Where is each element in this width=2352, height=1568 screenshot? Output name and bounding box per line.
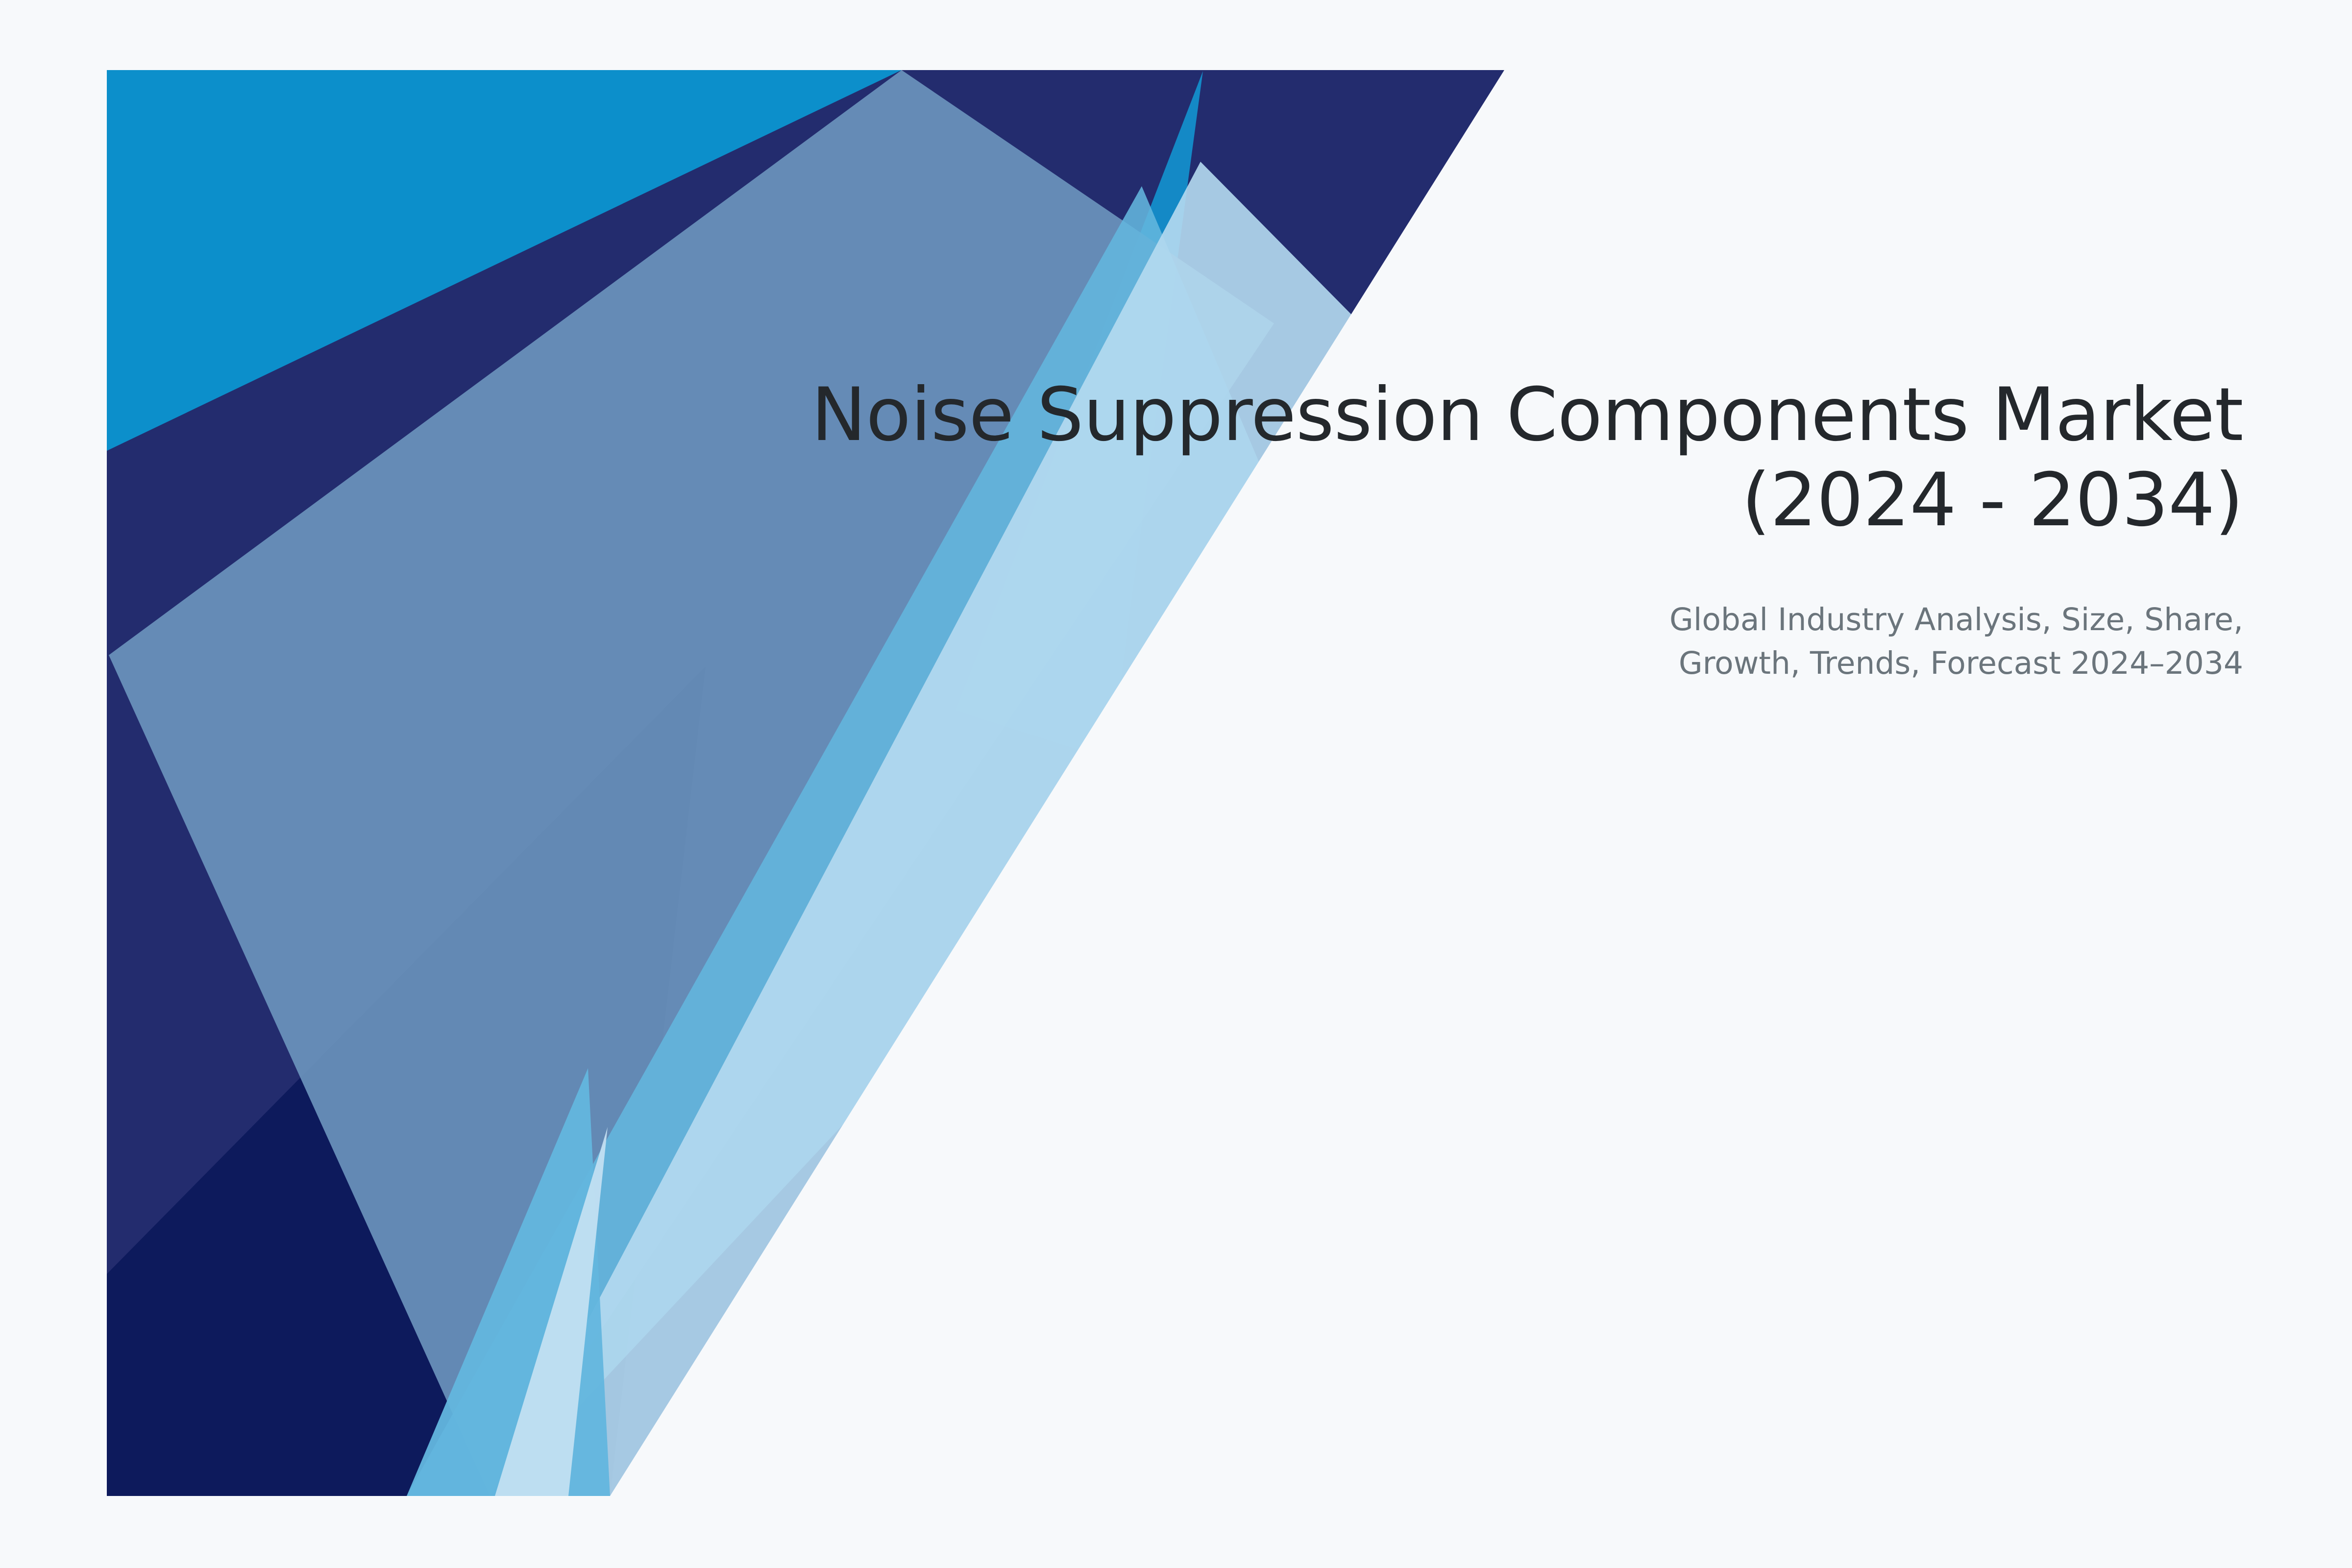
mask-bottom: [0, 1496, 2352, 1568]
page-title-line-2: (2024 - 2034): [724, 458, 2243, 543]
page-subtitle-line-1: Global Industry Analysis, Size, Share,: [724, 598, 2243, 641]
page-title: Noise Suppression Components Market (202…: [724, 372, 2243, 543]
cover-text-block: Noise Suppression Components Market (202…: [724, 372, 2243, 686]
cover-page: Noise Suppression Components Market (202…: [0, 0, 2352, 1568]
page-title-line-1: Noise Suppression Components Market: [724, 372, 2243, 458]
mask-left: [0, 0, 107, 1568]
page-subtitle-line-2: Growth, Trends, Forecast 2024–2034: [724, 641, 2243, 685]
abstract-geometric-cover-art: [0, 0, 2352, 1568]
page-subtitle: Global Industry Analysis, Size, Share, G…: [724, 598, 2243, 686]
mask-top: [0, 0, 2352, 70]
